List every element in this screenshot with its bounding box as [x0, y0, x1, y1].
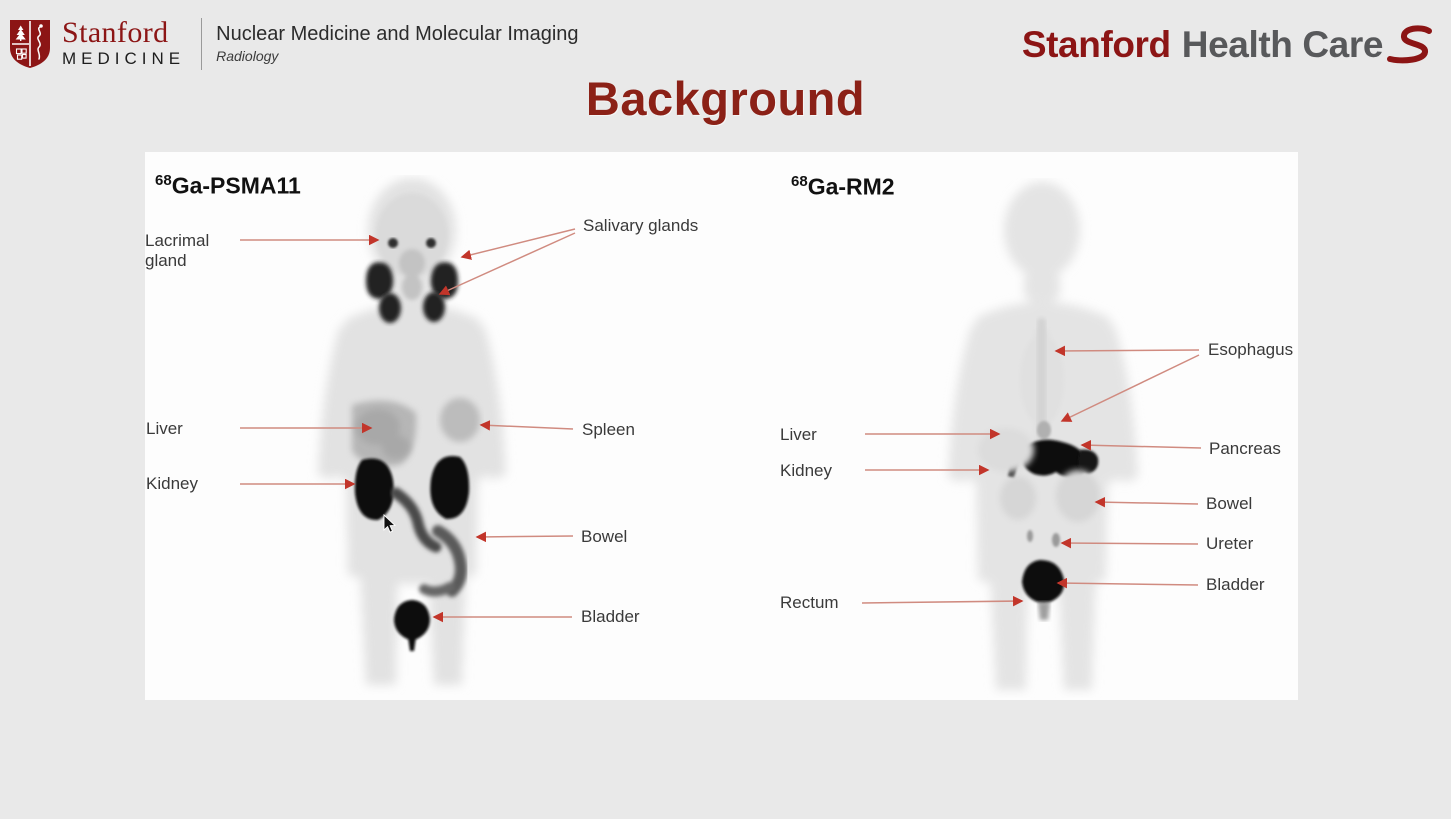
label-liver: Liver: [146, 419, 183, 439]
pet-scan-rm2: [930, 178, 1170, 698]
department-block: Nuclear Medicine and Molecular Imaging R…: [216, 22, 578, 67]
department-name: Nuclear Medicine and Molecular Imaging: [216, 22, 578, 47]
stanford-word: Stanford: [62, 18, 185, 48]
label-kidney: Kidney: [146, 474, 198, 494]
stanford-medicine-wordmark: Stanford MEDICINE: [62, 18, 185, 69]
logo-divider: [201, 18, 202, 70]
label-bowel-rm2: Bowel: [1206, 494, 1252, 514]
shc-stanford-word: Stanford: [1022, 24, 1171, 66]
tracer-superscript-psma11: 68: [155, 172, 172, 189]
tracer-heading-psma11: 68Ga-PSMA11: [155, 172, 301, 200]
page-title: Background: [0, 71, 1451, 126]
tracer-name-psma11: Ga-PSMA11: [172, 173, 301, 199]
department-subname: Radiology: [216, 47, 578, 67]
s-swoosh-icon: [1385, 24, 1433, 68]
label-rectum: Rectum: [780, 593, 839, 613]
mouse-pointer-icon: [383, 514, 397, 534]
label-salivary-glands: Salivary glands: [583, 216, 698, 236]
label-lacrimal-gland: Lacrimal gland: [145, 231, 209, 270]
label-pancreas: Pancreas: [1209, 439, 1281, 459]
label-esophagus: Esophagus: [1208, 340, 1293, 360]
tracer-name-rm2: Ga-RM2: [808, 174, 895, 200]
stanford-medicine-logo: Stanford MEDICINE Nuclear Medicine and M…: [8, 18, 579, 70]
label-liver-rm2: Liver: [780, 425, 817, 445]
medicine-word: MEDICINE: [62, 48, 185, 69]
slide-root: Stanford MEDICINE Nuclear Medicine and M…: [0, 0, 1451, 819]
label-spleen: Spleen: [582, 420, 635, 440]
tracer-superscript-rm2: 68: [791, 173, 808, 190]
label-bladder-rm2: Bladder: [1206, 575, 1265, 595]
label-bladder: Bladder: [581, 607, 640, 627]
label-kidney-rm2: Kidney: [780, 461, 832, 481]
shc-health-care-word: Health Care: [1182, 24, 1383, 66]
stanford-health-care-logo: Stanford Health Care: [1022, 24, 1433, 68]
tracer-heading-rm2: 68Ga-RM2: [791, 173, 895, 201]
label-ureter: Ureter: [1206, 534, 1253, 554]
label-bowel: Bowel: [581, 527, 627, 547]
stanford-shield-icon: [8, 18, 52, 70]
pet-scan-psma11: [300, 175, 540, 695]
